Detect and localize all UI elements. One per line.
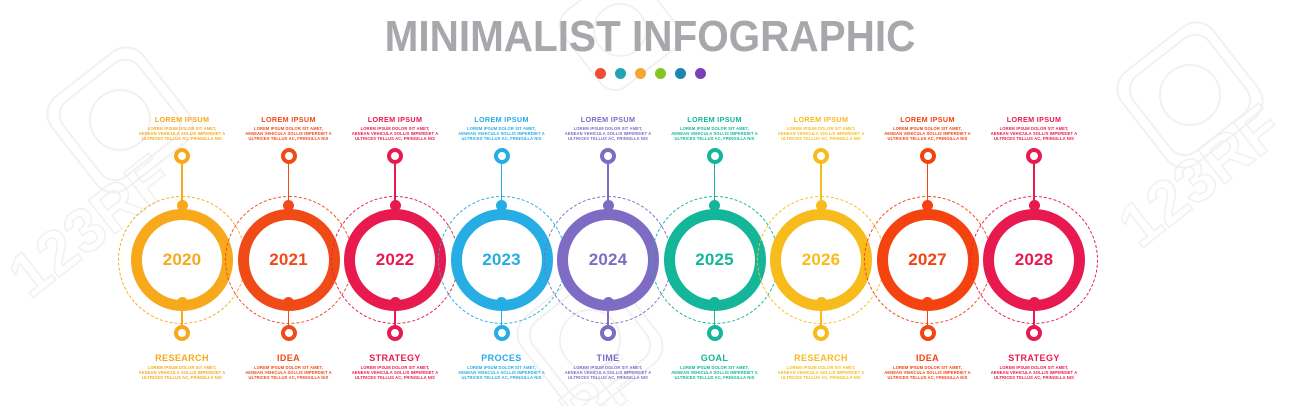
year-label: 2025	[695, 250, 734, 270]
bottom-connector-line	[394, 300, 396, 326]
bottom-marker-ring-icon[interactable]	[600, 325, 616, 341]
dot-red	[595, 68, 606, 79]
top-marker-ring-icon[interactable]	[707, 148, 723, 164]
top-marker-ring-icon[interactable]	[174, 148, 190, 164]
top-caption-2028: LOREM IPSUMLOREM IPSUM DOLOR SIT AMET,AE…	[964, 116, 1104, 141]
page-title: MINIMALIST INFOGRAPHIC	[52, 14, 1248, 60]
top-marker-ring-icon[interactable]	[600, 148, 616, 164]
bottom-connector-line	[607, 300, 609, 326]
bottom-connector-line	[181, 300, 183, 326]
bottom-marker-ring-icon[interactable]	[387, 325, 403, 341]
bottom-marker-ring-icon[interactable]	[813, 325, 829, 341]
top-heading: LOREM IPSUM	[964, 116, 1104, 124]
bottom-marker-ring-icon[interactable]	[707, 325, 723, 341]
bottom-marker-ring-icon[interactable]	[174, 325, 190, 341]
top-marker-ring-icon[interactable]	[387, 148, 403, 164]
top-marker-ring-icon[interactable]	[920, 148, 936, 164]
dot-amber	[635, 68, 646, 79]
bottom-marker-ring-icon[interactable]	[1026, 325, 1042, 341]
bottom-body: LOREM IPSUM DOLOR SIT AMET,AENEAN VEHICU…	[964, 365, 1104, 381]
bottom-body-line: ULTRICES TELLUS AC, FRINGILLA NIS	[964, 375, 1104, 380]
bottom-marker-ring-icon[interactable]	[920, 325, 936, 341]
infographic-canvas: 123RF 123RF 123RF MINIMALIST INFOGRAPHIC…	[0, 0, 1300, 406]
top-marker-ring-icon[interactable]	[1026, 148, 1042, 164]
bottom-connector-line	[501, 300, 503, 326]
bottom-heading: STRATEGY	[964, 353, 1104, 363]
dot-green	[655, 68, 666, 79]
year-label: 2021	[269, 250, 308, 270]
header: MINIMALIST INFOGRAPHIC	[0, 14, 1300, 79]
year-label: 2020	[163, 250, 202, 270]
dot-blue	[675, 68, 686, 79]
top-body-line: ULTRICES TELLUS AC, FRINGILLA NIS	[964, 136, 1104, 141]
top-marker-ring-icon[interactable]	[813, 148, 829, 164]
top-body: LOREM IPSUM DOLOR SIT AMET,AENEAN VEHICU…	[964, 126, 1104, 142]
year-label: 2028	[1015, 250, 1054, 270]
bottom-connector-line	[1033, 300, 1035, 326]
year-label: 2024	[589, 250, 628, 270]
bottom-marker-ring-icon[interactable]	[494, 325, 510, 341]
bottom-connector-line	[927, 300, 929, 326]
solid-ring-icon: 2028	[983, 209, 1085, 311]
dot-purple	[695, 68, 706, 79]
bottom-connector-line	[820, 300, 822, 326]
bottom-caption-2028: STRATEGYLOREM IPSUM DOLOR SIT AMET,AENEA…	[964, 353, 1104, 380]
bottom-marker-ring-icon[interactable]	[281, 325, 297, 341]
year-label: 2023	[482, 250, 521, 270]
top-marker-ring-icon[interactable]	[281, 148, 297, 164]
year-label: 2022	[376, 250, 415, 270]
top-marker-ring-icon[interactable]	[494, 148, 510, 164]
bottom-connector-line	[288, 300, 290, 326]
bottom-connector-line	[714, 300, 716, 326]
dot-teal	[615, 68, 626, 79]
year-label: 2026	[802, 250, 841, 270]
year-label: 2027	[908, 250, 947, 270]
accent-dot-row	[0, 68, 1300, 79]
